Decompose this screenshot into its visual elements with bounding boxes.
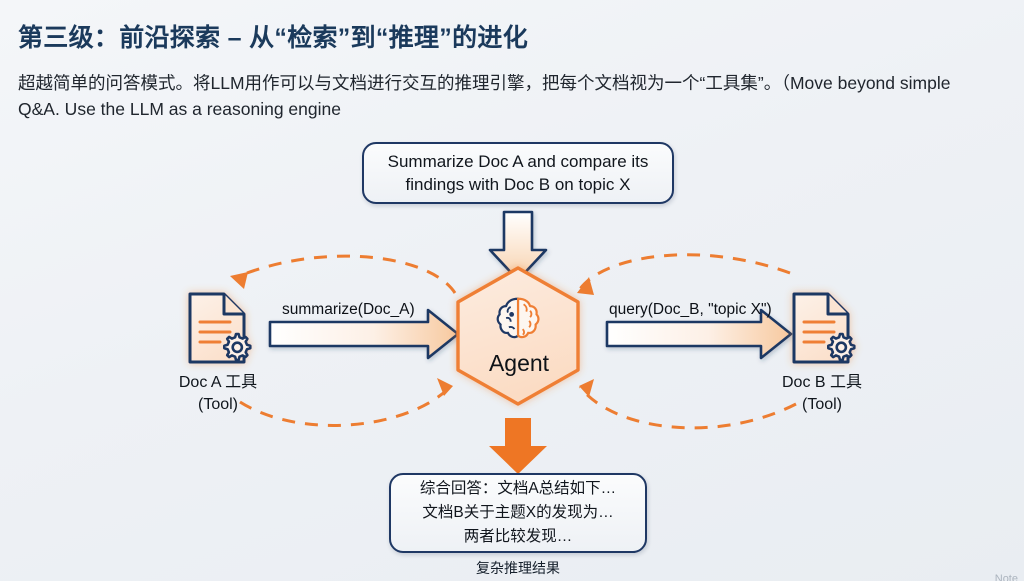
call-label-query: query(Doc_B, "topic X") <box>609 301 772 319</box>
query-prompt-box: Summarize Doc A and compare its findings… <box>362 142 674 204</box>
doc-a-label-line-1: Doc A 工具 <box>128 372 308 394</box>
slide-canvas: 第三级：前沿探索 – 从“检索”到“推理”的进化 超越简单的问答模式。将LLM用… <box>0 0 1024 581</box>
call-label-summarize: summarize(Doc_A) <box>282 301 415 319</box>
doc-b-label-line-2: (Tool) <box>732 394 912 416</box>
arrow-query-to-agent <box>490 212 546 280</box>
doc-a-label: Doc A 工具 (Tool) <box>128 372 308 416</box>
doc-a-icon <box>190 294 250 362</box>
query-line-2: findings with Doc B on topic X <box>406 173 631 196</box>
answer-line-3: 两者比较发现… <box>464 525 573 549</box>
query-line-1: Summarize Doc A and compare its <box>388 150 649 173</box>
arrow-agent-to-answer <box>489 418 547 474</box>
page-subtitle: 超越简单的问答模式。将LLM用作可以与文档进行交互的推理引擎，把每个文档视为一个… <box>18 70 978 122</box>
answer-line-2: 文档B关于主题X的发现为… <box>422 501 613 525</box>
agent-hexagon <box>458 268 578 404</box>
doc-b-label: Doc B 工具 (Tool) <box>732 372 912 416</box>
agent-label: Agent <box>448 350 590 377</box>
answer-line-1: 综合回答：文档A总结如下… <box>420 477 616 501</box>
doc-b-icon <box>794 294 854 362</box>
page-title: 第三级：前沿探索 – 从“检索”到“推理”的进化 <box>18 18 528 54</box>
answer-caption: 复杂推理结果 <box>389 558 647 578</box>
dashed-return-left-upper <box>230 256 455 293</box>
doc-b-label-line-1: Doc B 工具 <box>732 372 912 394</box>
doc-a-label-line-2: (Tool) <box>128 394 308 416</box>
dashed-return-right-upper <box>577 255 790 295</box>
watermark: Note <box>995 573 1018 581</box>
answer-box: 综合回答：文档A总结如下… 文档B关于主题X的发现为… 两者比较发现… <box>389 473 647 553</box>
brain-icon <box>498 299 539 337</box>
